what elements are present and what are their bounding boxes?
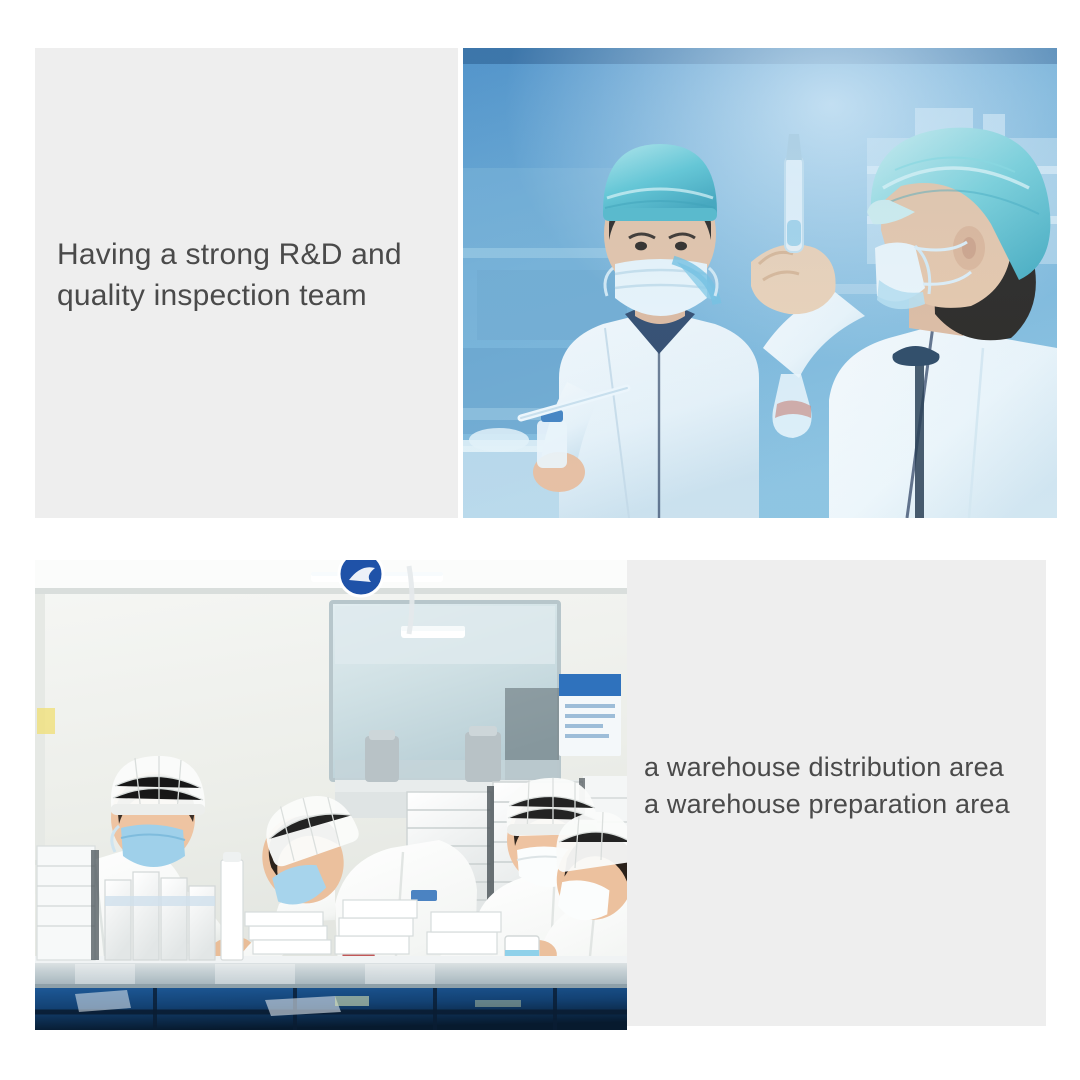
section-warehouse-areas: a warehouse distribution area a warehous… (35, 560, 1046, 1030)
section-rnd-quality: Having a strong R&D and quality inspecti… (35, 48, 1057, 518)
lab-technicians-photo (463, 48, 1057, 518)
caption-text-warehouse: a warehouse distribution area a warehous… (644, 749, 1046, 823)
warehouse-packing-illustration (35, 560, 627, 1030)
caption-text-rnd: Having a strong R&D and quality inspecti… (57, 234, 449, 316)
warehouse-packing-photo (35, 560, 627, 1030)
page-root: Having a strong R&D and quality inspecti… (0, 0, 1080, 1080)
lab-technicians-illustration (463, 48, 1057, 518)
